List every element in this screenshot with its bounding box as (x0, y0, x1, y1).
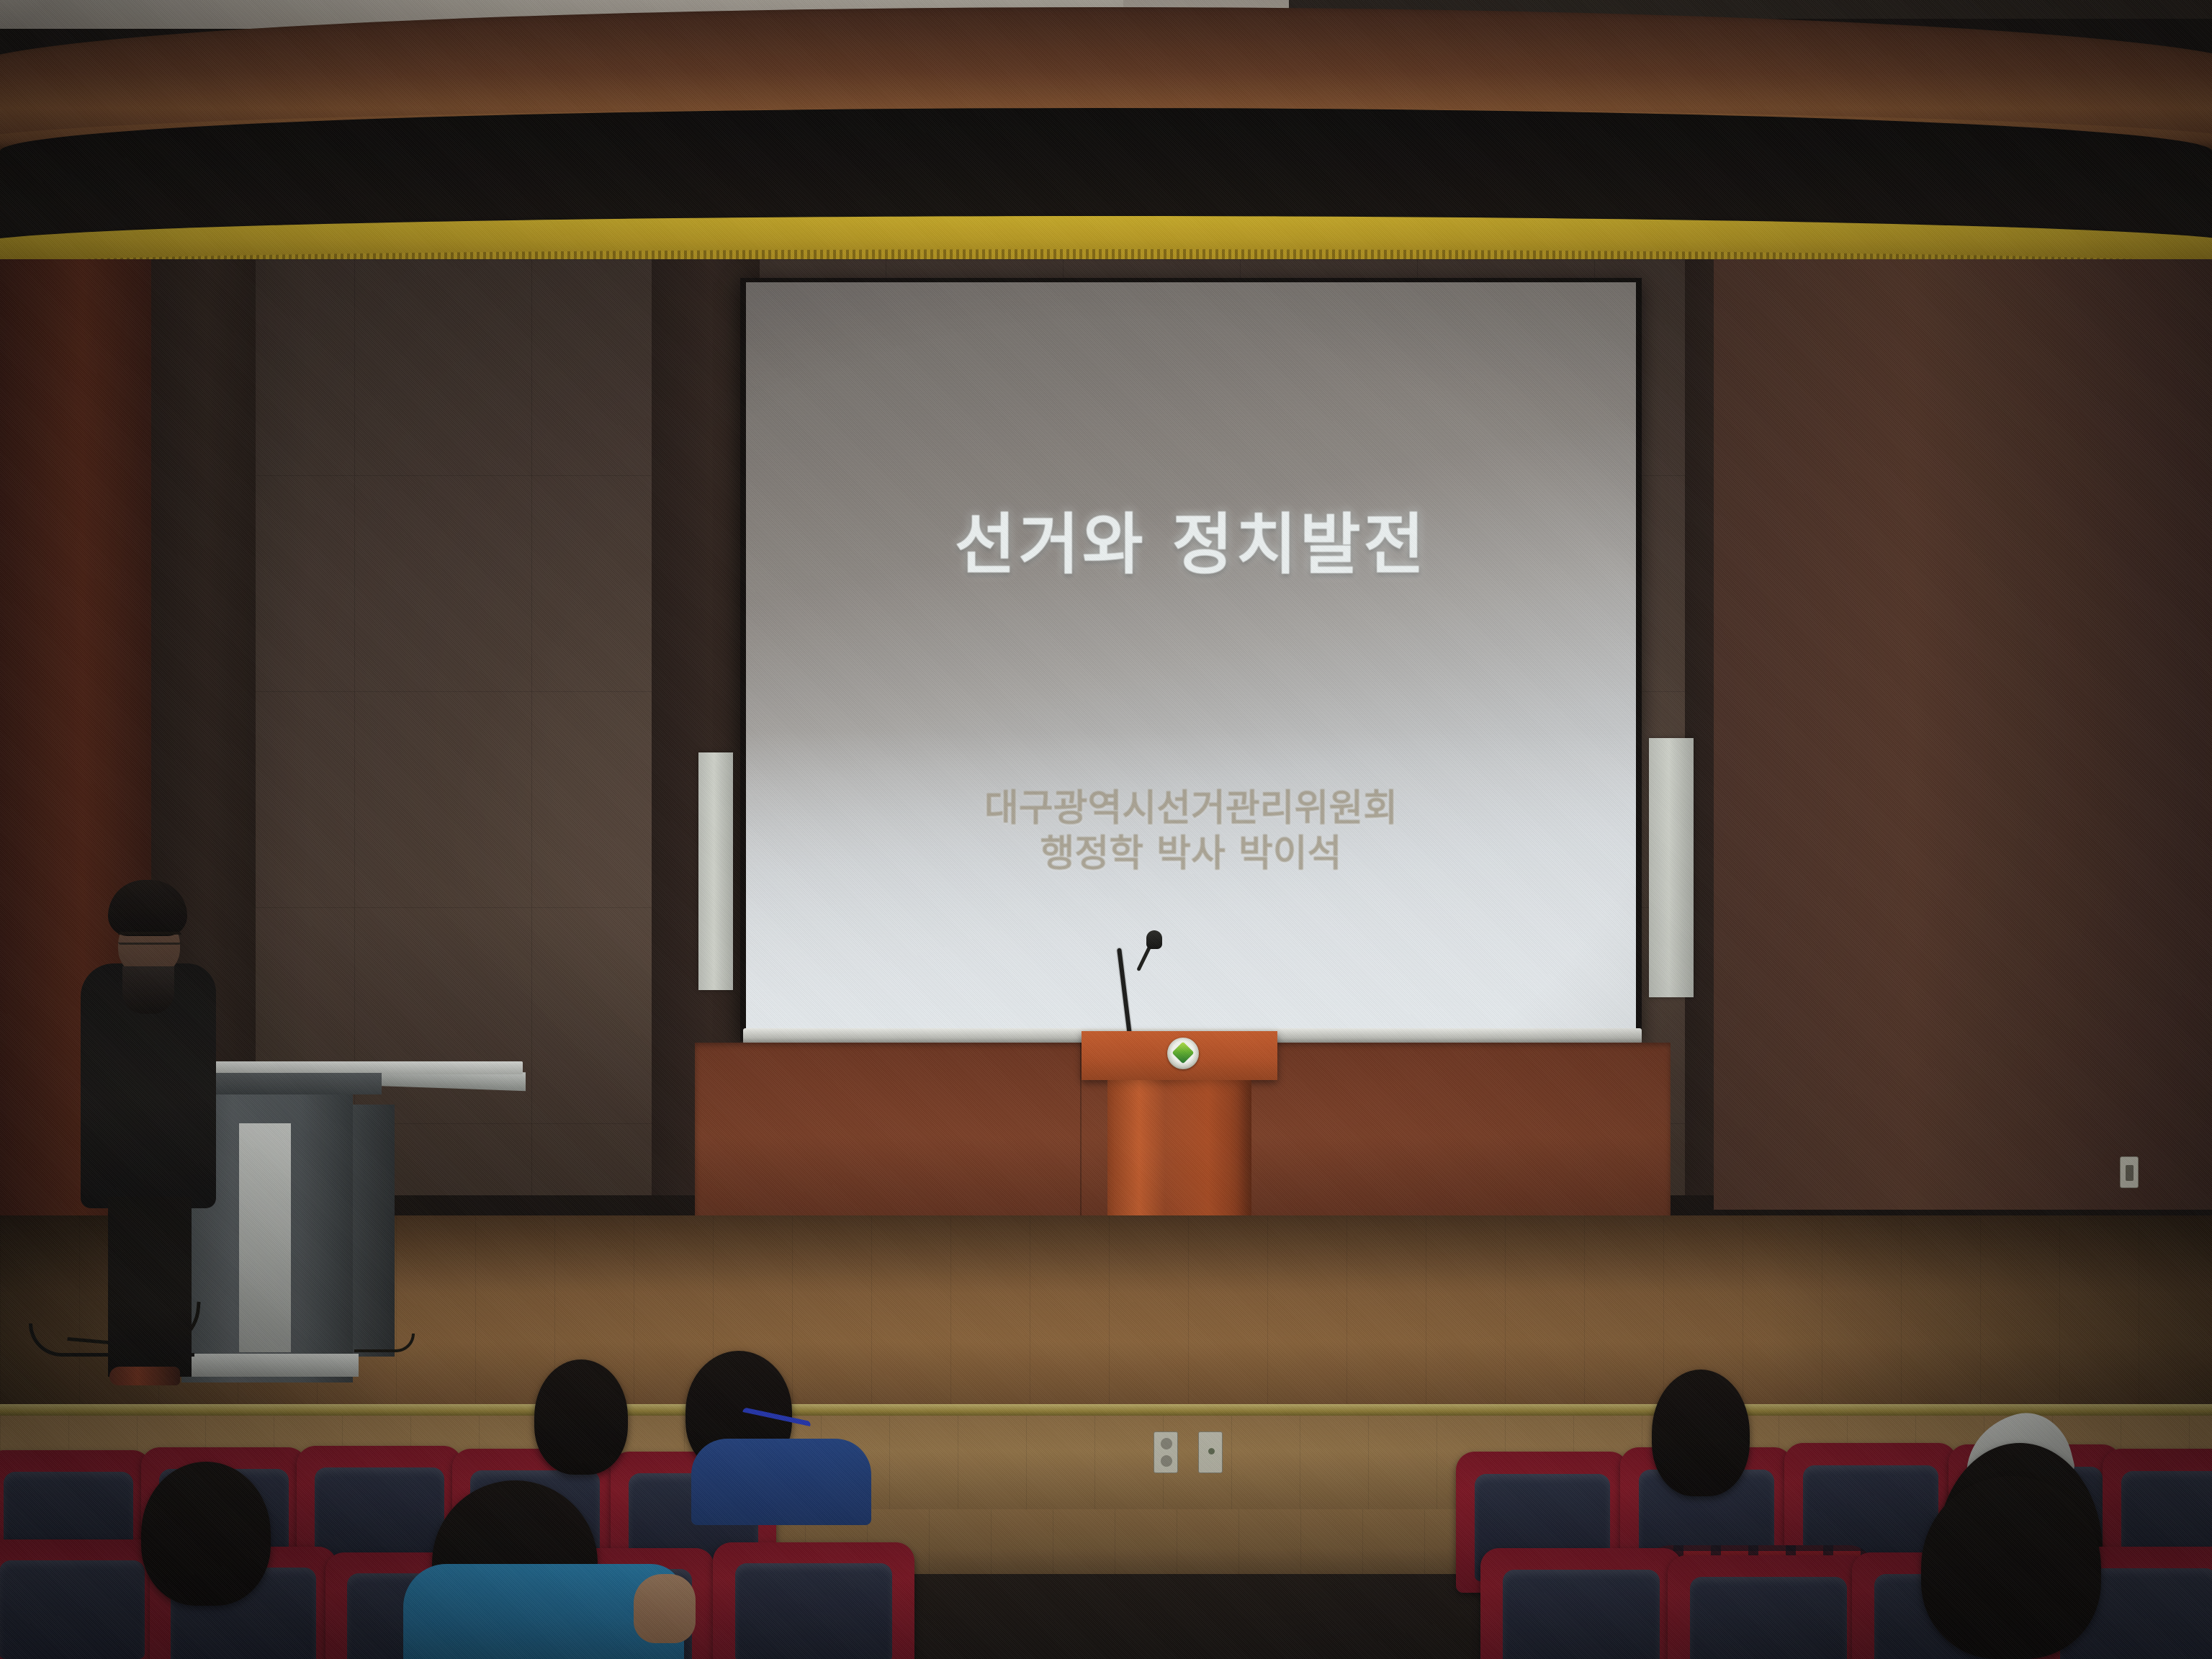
seat-front-r1[interactable] (1480, 1548, 1682, 1659)
slide-subtitle: 대구광역시선거관리위원회 행정학 박사 박이석 (746, 786, 1636, 878)
operator-collar (122, 966, 174, 1014)
slide-title: 선거와 정치발전 (746, 491, 1636, 587)
floor-cable-c (354, 1334, 415, 1352)
projection-screen: 선거와 정치발전 대구광역시선거관리위원회 행정학 박사 박이석 (746, 282, 1636, 1034)
screen-side-panel-right (1649, 738, 1694, 997)
right-side-wall (1714, 259, 2212, 1210)
microphone-head-icon (1146, 930, 1162, 949)
blue-hood-attendee (691, 1439, 871, 1525)
glasses-icon (118, 932, 181, 945)
console-side-body (351, 1105, 395, 1357)
attendee-head-c (1652, 1370, 1750, 1496)
wall-outlet-right (2120, 1156, 2139, 1188)
auditorium-photo: 선거와 정치발전 대구광역시선거관리위원회 행정학 박사 박이석 (0, 0, 2212, 1659)
election-commission-emblem-icon (1167, 1038, 1199, 1069)
operator-at-av-console (78, 880, 222, 1384)
operator-hair (108, 880, 187, 936)
slide-bottom-gradient (746, 732, 1636, 1034)
attendee-head-e (141, 1462, 271, 1606)
seat-front-r2[interactable] (1668, 1555, 1869, 1659)
operator-legs (108, 1197, 192, 1377)
operator-shoe (109, 1367, 180, 1385)
slide-subtitle-line2: 행정학 박사 박이석 (746, 832, 1636, 877)
screen-side-panel-left (698, 752, 733, 990)
attendee-hand (634, 1574, 696, 1643)
seat-front-l5[interactable] (713, 1542, 914, 1659)
console-front-panel (239, 1123, 291, 1352)
slide-subtitle-line1: 대구광역시선거관리위원회 (746, 786, 1636, 832)
seat-front-l1[interactable] (0, 1539, 166, 1659)
stage-jack-plate (1198, 1431, 1223, 1473)
stage-power-outlet (1154, 1431, 1178, 1473)
attendee-head-a (534, 1359, 628, 1475)
attendee-head-g (1921, 1476, 2101, 1659)
